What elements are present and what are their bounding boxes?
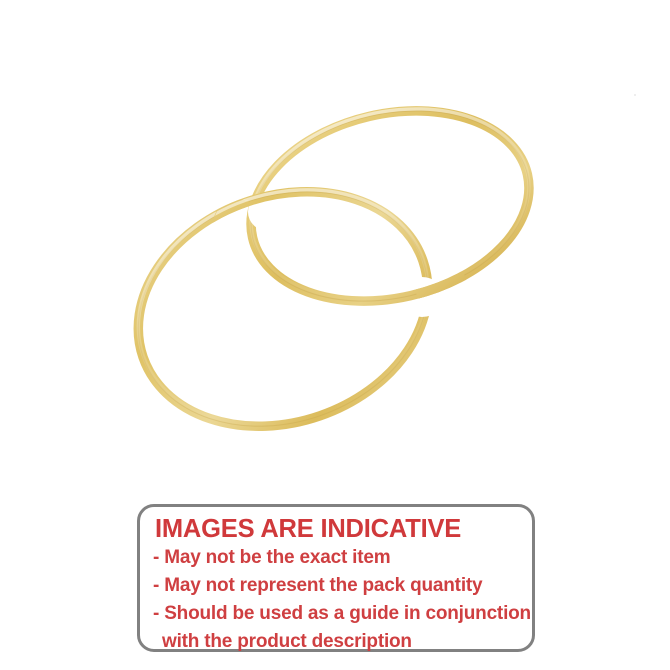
upper-ring-crossing-detail [232,83,548,328]
disclaimer-line-3: - Should be used as a guide in conjuncti… [140,600,532,628]
upper-ring-over-crossing [232,85,548,328]
disclaimer-line-4: with the product description [140,628,532,656]
lower-left-o-ring [106,152,459,464]
product-image-canvas: IMAGES ARE INDICATIVE - May not be the e… [0,0,670,670]
lower-ring-crossing-detail [106,152,459,464]
o-ring-product-illustration [0,0,670,480]
images-are-indicative-notice: IMAGES ARE INDICATIVE - May not be the e… [137,504,535,652]
disclaimer-line-2: - May not represent the pack quantity [140,572,532,600]
disclaimer-title: IMAGES ARE INDICATIVE [140,514,532,544]
upper-right-o-ring [232,83,548,328]
disclaimer-line-1: - May not be the exact item [140,544,532,572]
image-artifact-speck [634,94,636,96]
